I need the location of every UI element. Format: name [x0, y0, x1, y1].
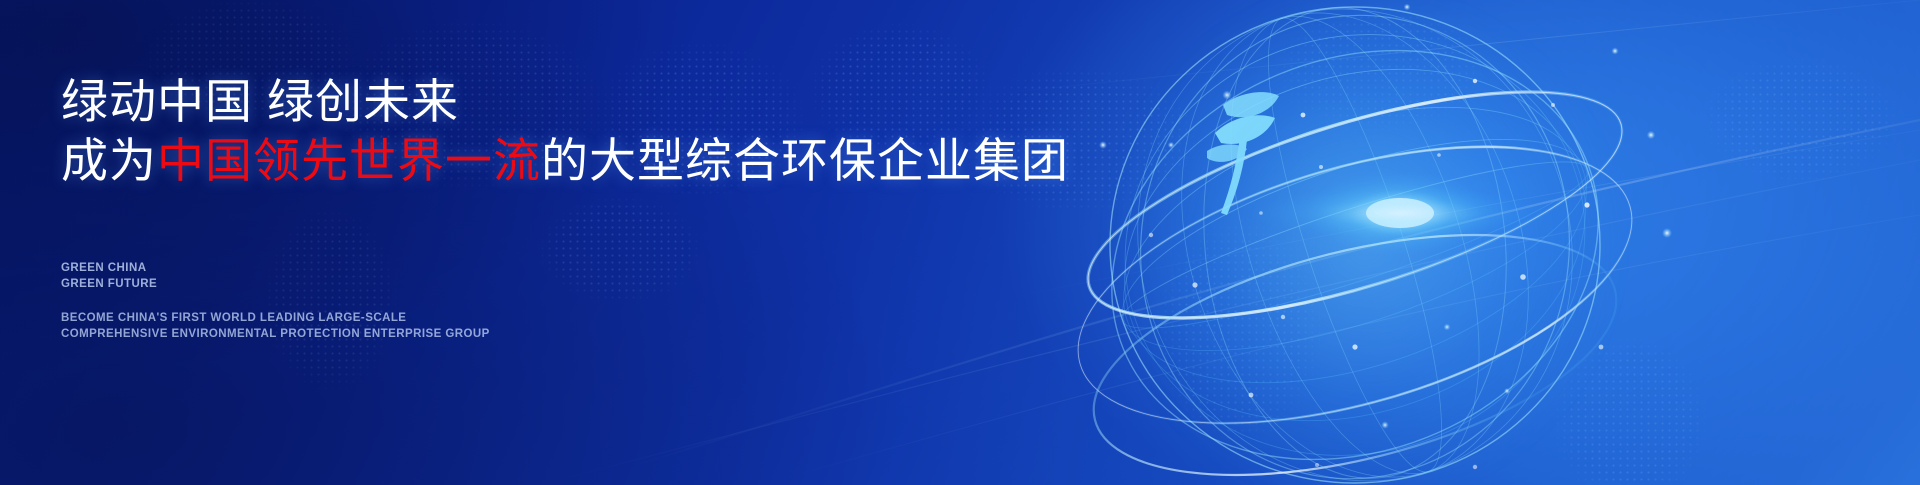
headline-block: 绿动中国 绿创未来 成为中国领先世界一流的大型综合环保企业集团 [61, 74, 1061, 189]
subtitle-line-1: GREEN CHINA [61, 261, 157, 277]
tagline-english: BECOME CHINA'S FIRST WORLD LEADING LARGE… [61, 311, 490, 343]
subtitle-line-2: GREEN FUTURE [61, 277, 157, 293]
headline-prefix: 成为 [61, 134, 157, 187]
headline-line-2: 成为中国领先世界一流的大型综合环保企业集团 [61, 133, 1061, 188]
globe-glow [1095, 0, 1615, 485]
headline-suffix: 的大型综合环保企业集团 [541, 134, 1069, 187]
globe-graphic [1055, 0, 1675, 485]
headline-accent: 中国领先世界一流 [157, 134, 541, 187]
headline-line-1: 绿动中国 绿创未来 [61, 74, 1061, 129]
hero-banner: 绿动中国 绿创未来 成为中国领先世界一流的大型综合环保企业集团 GREEN CH… [0, 0, 1920, 485]
tagline-line-1: BECOME CHINA'S FIRST WORLD LEADING LARGE… [61, 311, 490, 327]
tagline-line-2: COMPREHENSIVE ENVIRONMENTAL PROTECTION E… [61, 327, 490, 343]
subtitle-english: GREEN CHINA GREEN FUTURE [61, 261, 157, 293]
